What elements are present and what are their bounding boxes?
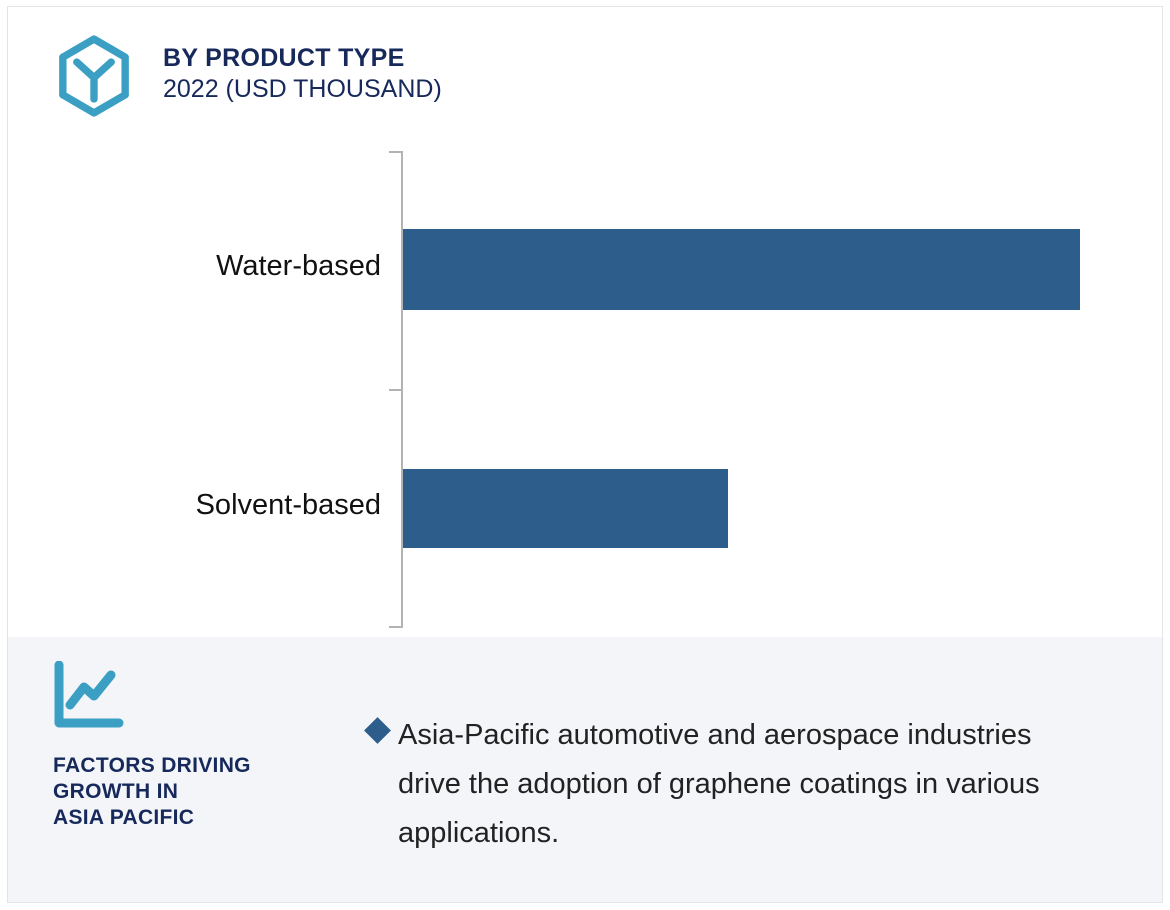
header: BY PRODUCT TYPE 2022 (USD THOUSAND) xyxy=(8,7,1162,133)
factors-panel: FACTORS DRIVING GROWTH IN ASIA PACIFIC A… xyxy=(8,637,1162,902)
page-subtitle: 2022 (USD THOUSAND) xyxy=(163,73,442,105)
axis-tick-bottom xyxy=(389,626,402,628)
hexagon-y-icon xyxy=(53,35,135,117)
panel-heading: FACTORS DRIVING GROWTH IN ASIA PACIFIC xyxy=(53,753,353,831)
bullet-item: Asia-Pacific automotive and aerospace in… xyxy=(368,711,1068,858)
panel-heading-line-3: ASIA PACIFIC xyxy=(53,806,194,829)
page-title: BY PRODUCT TYPE xyxy=(163,43,442,73)
diamond-bullet-icon xyxy=(364,717,391,744)
bar-water-based xyxy=(403,229,1080,310)
bar-label: Solvent-based xyxy=(48,489,381,522)
panel-left-block: FACTORS DRIVING GROWTH IN ASIA PACIFIC xyxy=(53,661,353,831)
line-chart-icon xyxy=(53,661,353,731)
bar-solvent-based xyxy=(403,469,728,548)
infographic-card: BY PRODUCT TYPE 2022 (USD THOUSAND) Wate… xyxy=(7,6,1163,903)
bullet-text: Asia-Pacific automotive and aerospace in… xyxy=(398,711,1068,858)
bar-chart: Water-based Solvent-based xyxy=(8,133,1162,637)
panel-heading-line-1: FACTORS DRIVING xyxy=(53,754,251,777)
axis-tick-top xyxy=(389,151,402,153)
panel-heading-line-2: GROWTH IN xyxy=(53,780,178,803)
header-text-block: BY PRODUCT TYPE 2022 (USD THOUSAND) xyxy=(163,43,442,105)
bar-label: Water-based xyxy=(48,250,381,283)
axis-tick-middle xyxy=(389,389,402,391)
